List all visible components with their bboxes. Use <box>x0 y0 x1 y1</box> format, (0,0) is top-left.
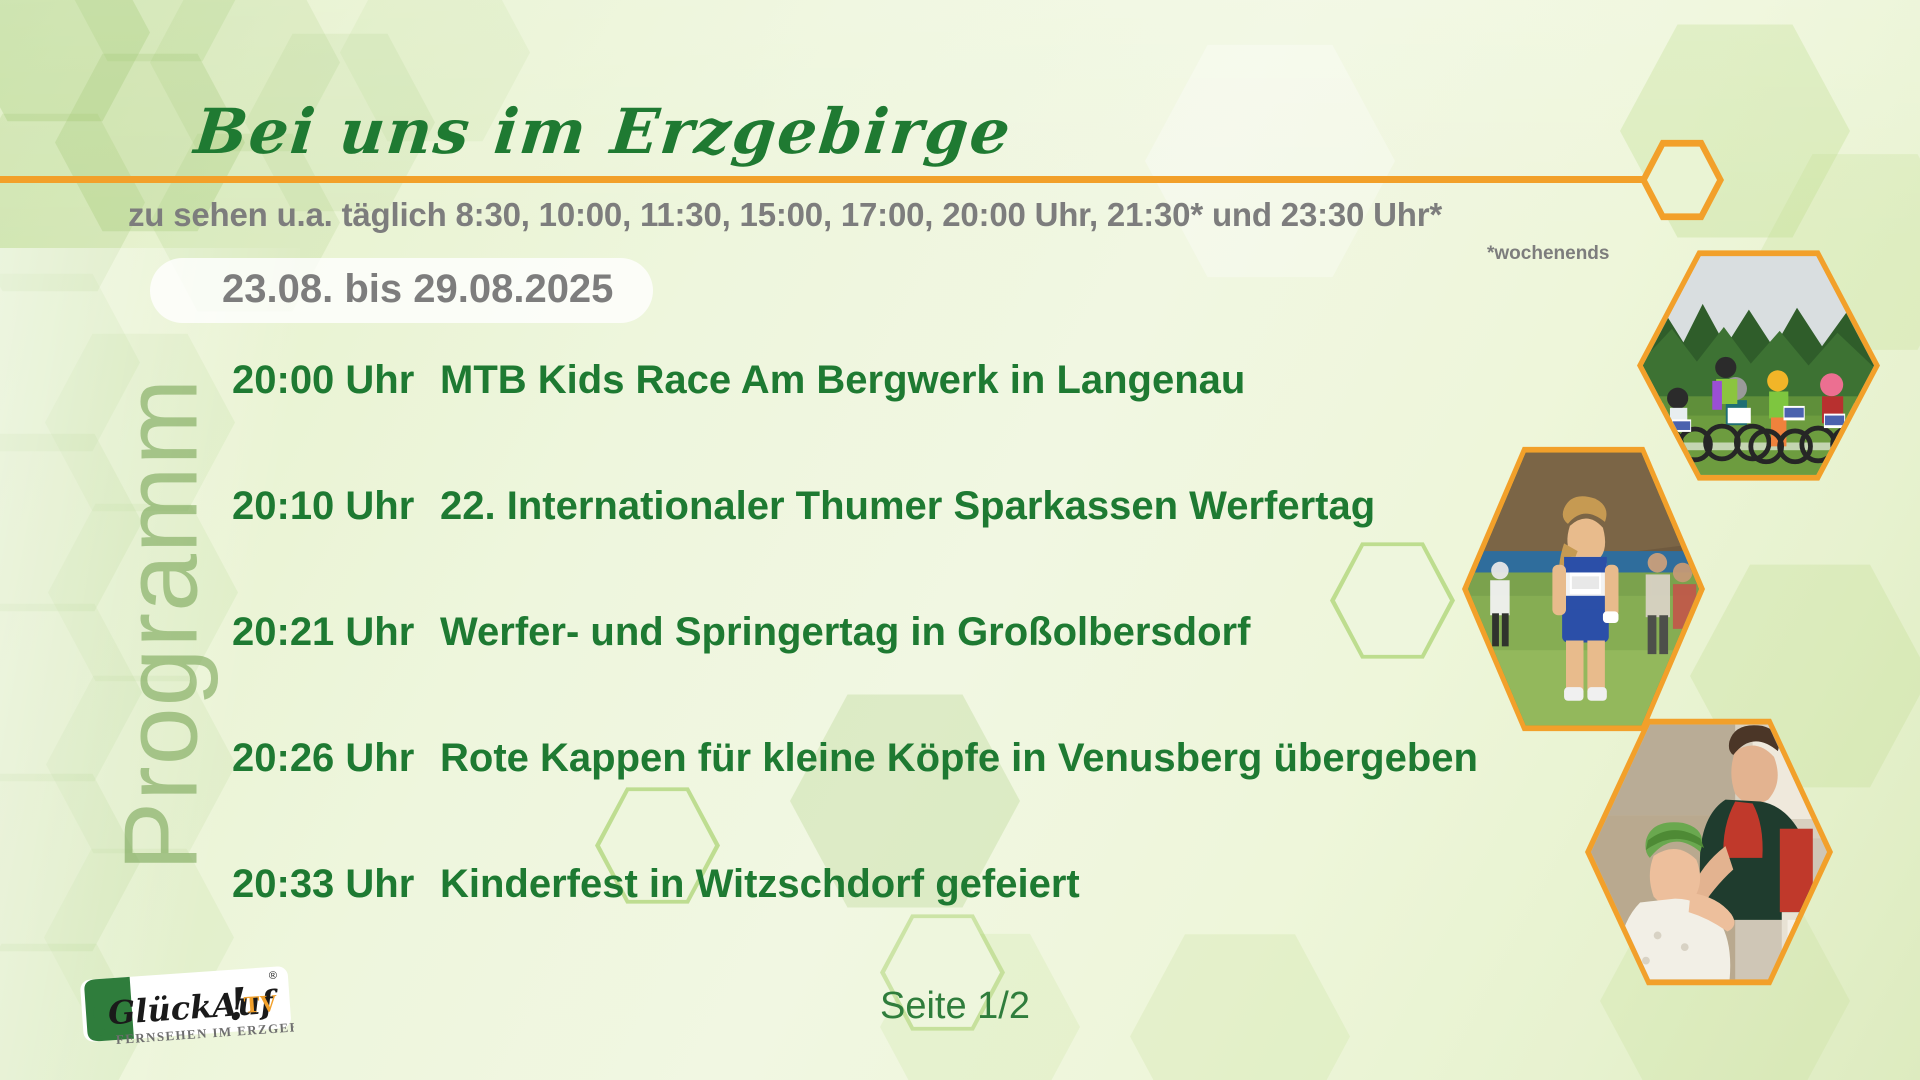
page-indicator: Seite 1/2 <box>880 985 1030 1028</box>
schedule-title: Kinderfest in Witzschdorf gefeiert <box>440 862 1552 907</box>
schedule-row: 20:10 Uhr 22. Internationaler Thumer Spa… <box>232 484 1552 610</box>
airtimes-text: zu sehen u.a. täglich 8:30, 10:00, 11:30… <box>128 196 1442 234</box>
red-caps-children-photo <box>1585 716 1833 988</box>
show-title: Bei uns im Erzgebirge <box>191 95 1015 168</box>
date-range-badge: 23.08. bis 29.08.2025 <box>150 258 653 323</box>
schedule-row: 20:21 Uhr Werfer- und Springertag in Gro… <box>232 610 1552 736</box>
schedule-list: 20:00 Uhr MTB Kids Race Am Bergwerk in L… <box>232 358 1552 988</box>
hexagon-line-terminus-icon <box>1640 139 1724 221</box>
schedule-time: 20:26 Uhr <box>232 736 440 781</box>
svg-text:®: ® <box>268 970 277 983</box>
photo-image <box>1591 722 1827 982</box>
schedule-title: Rote Kappen für kleine Köpfe in Venusber… <box>440 736 1552 781</box>
schedule-row: 20:00 Uhr MTB Kids Race Am Bergwerk in L… <box>232 358 1552 484</box>
svg-text:TV: TV <box>243 991 279 1019</box>
schedule-title: Werfer- und Springertag in Großolbersdor… <box>440 610 1552 655</box>
schedule-row: 20:33 Uhr Kinderfest in Witzschdorf gefe… <box>232 862 1552 988</box>
schedule-time: 20:10 Uhr <box>232 484 440 529</box>
schedule-title: MTB Kids Race Am Bergwerk in Langenau <box>440 358 1552 403</box>
schedule-time: 20:21 Uhr <box>232 610 440 655</box>
schedule-row: 20:26 Uhr Rote Kappen für kleine Köpfe i… <box>232 736 1552 862</box>
athletics-thrower-photo <box>1462 444 1705 734</box>
airtimes-footnote: *wochenends <box>1487 243 1609 265</box>
schedule-title: 22. Internationaler Thumer Sparkassen We… <box>440 484 1552 529</box>
tv-program-slide: Bei uns im Erzgebirge zu sehen u.a. tägl… <box>0 0 1920 1080</box>
photo-image <box>1468 450 1699 728</box>
section-label-programm: Programm <box>103 275 222 975</box>
schedule-time: 20:33 Uhr <box>232 862 440 907</box>
channel-logo: GlückAuf ! TV ® FERNSEHEN IM ERZGEBIRGE <box>78 965 294 1053</box>
schedule-time: 20:00 Uhr <box>232 358 440 403</box>
header-divider-line <box>0 176 1665 183</box>
